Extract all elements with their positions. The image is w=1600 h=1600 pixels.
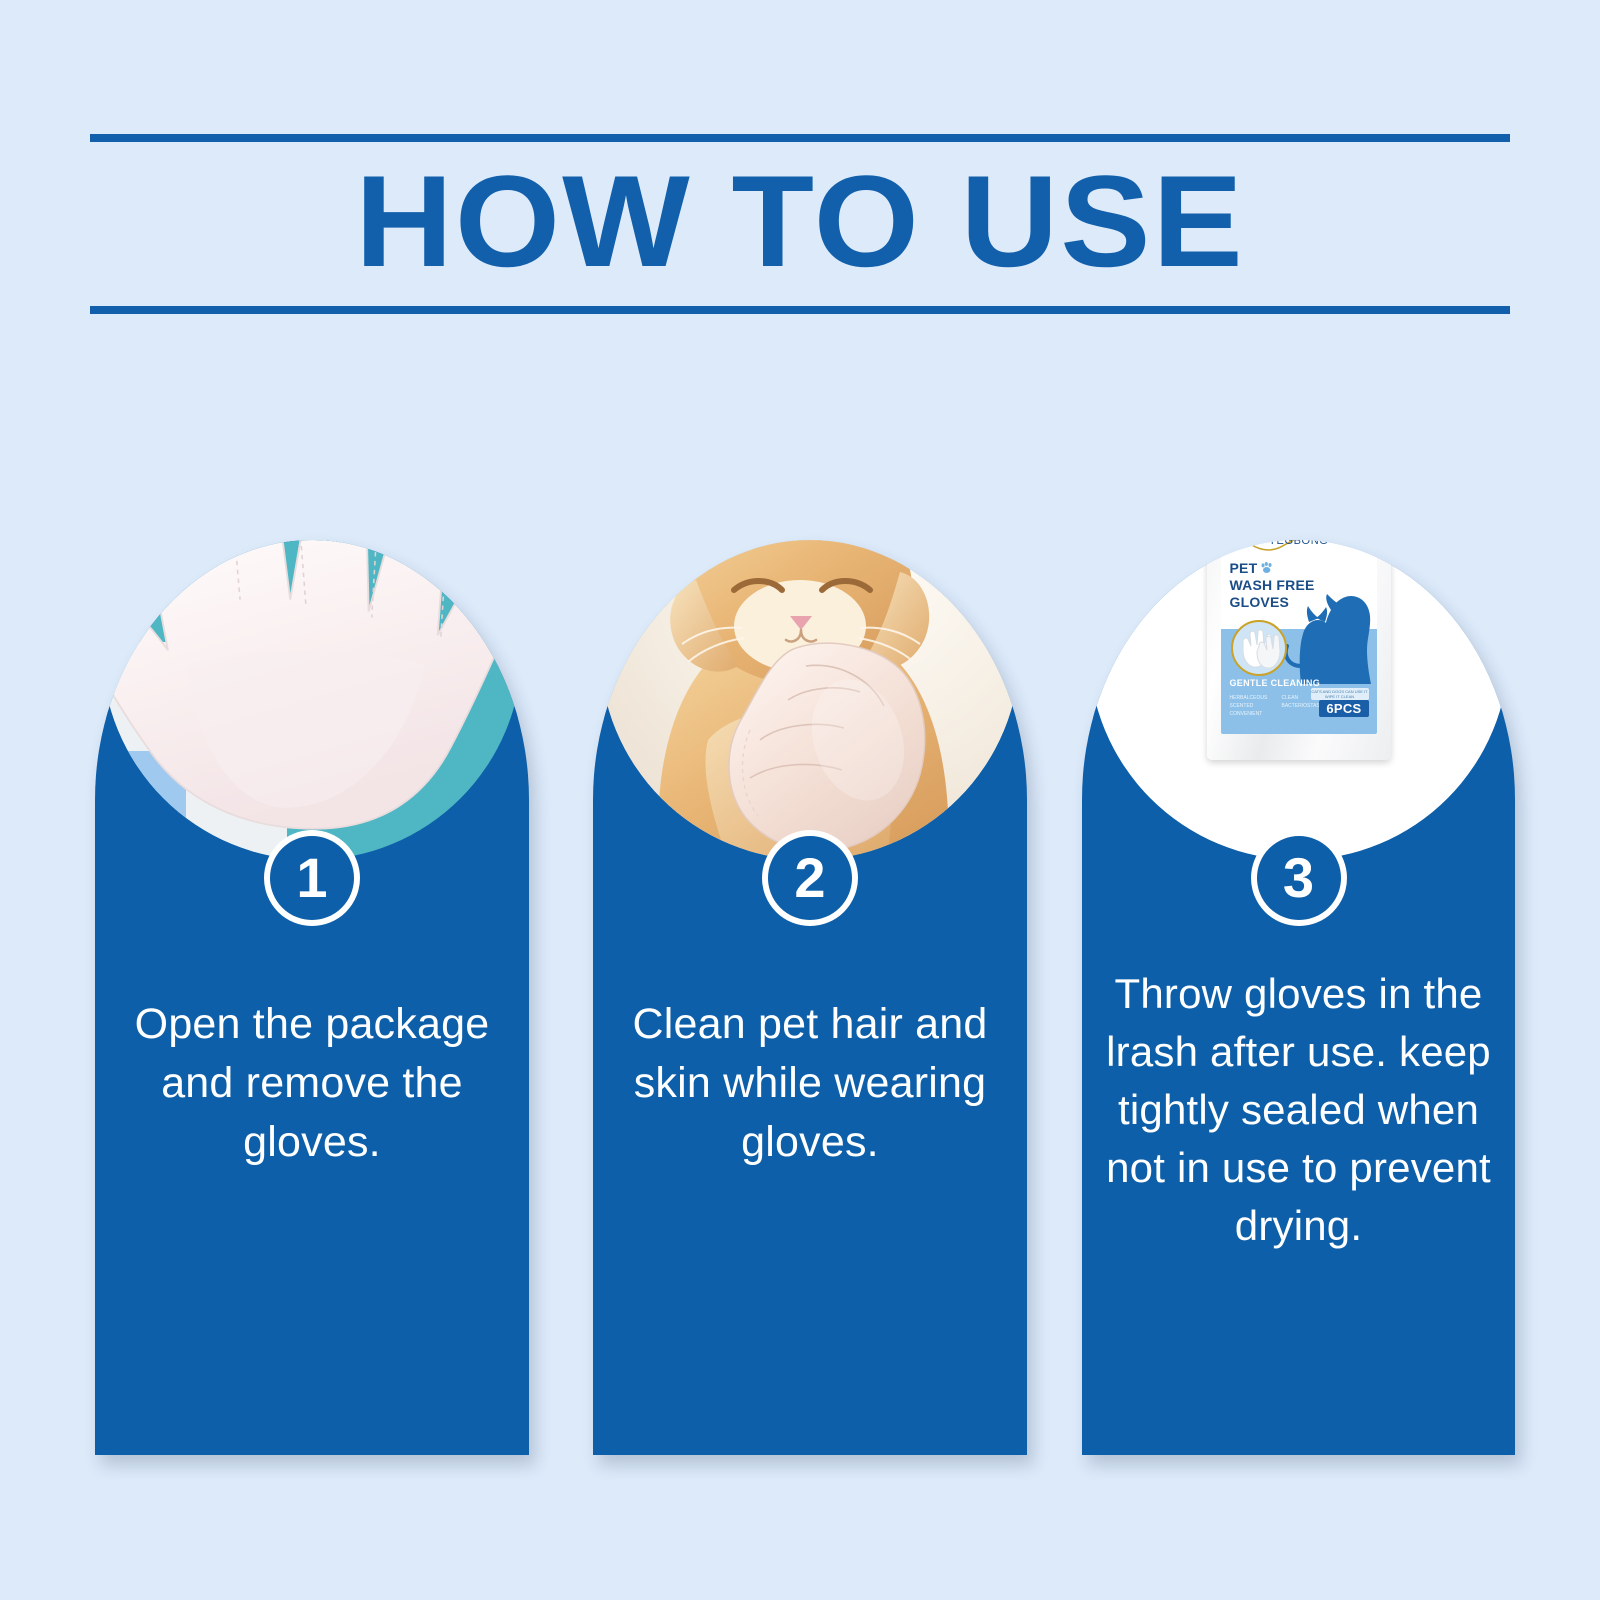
pack-count-badge: 6PCS bbox=[1319, 700, 1368, 717]
package-photo: YEGBONG PET WASH FREE bbox=[1089, 540, 1509, 860]
glove-icon bbox=[102, 540, 522, 843]
step-card-2: 2 Clean pet hair and skin while wearing … bbox=[593, 540, 1027, 1455]
brand-name: YEGBONG bbox=[1221, 540, 1377, 547]
features-left: HERBALCEOUS SCENTED CONVENIENT bbox=[1230, 694, 1282, 718]
glove-photo bbox=[102, 540, 522, 860]
step-caption-3: Throw gloves in the lrash after use. kee… bbox=[1100, 965, 1497, 1255]
feature-item: CONVENIENT bbox=[1230, 711, 1263, 717]
product-pouch: YEGBONG PET WASH FREE bbox=[1207, 540, 1391, 760]
feature-item: SCENTED bbox=[1230, 703, 1254, 709]
cat-illustration-icon bbox=[600, 540, 1020, 860]
step-1-photo-frame bbox=[102, 540, 522, 860]
product-title-line2: WASH FREE bbox=[1230, 577, 1315, 593]
step-caption-2: Clean pet hair and skin while wearing gl… bbox=[611, 995, 1009, 1172]
gloves-badge-icon bbox=[1231, 620, 1287, 676]
feature-item: CLEAN bbox=[1282, 695, 1299, 701]
step-2-photo-frame bbox=[600, 540, 1020, 860]
cat-wiping-photo bbox=[600, 540, 1020, 860]
product-title-line1: PET bbox=[1230, 560, 1258, 576]
feature-item: HERBALCEOUS bbox=[1230, 695, 1268, 701]
steps-container: 1 Open the package and remove the gloves… bbox=[0, 0, 1600, 1600]
product-tagline: GENTLE CLEANING bbox=[1230, 678, 1321, 688]
step-number-badge-3: 3 bbox=[1251, 830, 1347, 926]
pouch-label: YEGBONG PET WASH FREE bbox=[1221, 540, 1377, 734]
step-number-badge-1: 1 bbox=[264, 830, 360, 926]
step-caption-1: Open the package and remove the gloves. bbox=[113, 995, 511, 1172]
step-number-badge-2: 2 bbox=[762, 830, 858, 926]
pack-usage-note: CATS AND DOGS CAN USE IT WIPE IT CLEAN bbox=[1311, 688, 1369, 700]
paw-print-icon bbox=[1260, 561, 1274, 573]
step-card-3: YEGBONG PET WASH FREE bbox=[1082, 540, 1515, 1455]
dog-cat-silhouette-icon bbox=[1281, 592, 1373, 688]
step-card-1: 1 Open the package and remove the gloves… bbox=[95, 540, 529, 1455]
feature-item: BACTERIOSTASIS bbox=[1282, 703, 1325, 709]
step-3-photo-frame: YEGBONG PET WASH FREE bbox=[1089, 540, 1509, 860]
